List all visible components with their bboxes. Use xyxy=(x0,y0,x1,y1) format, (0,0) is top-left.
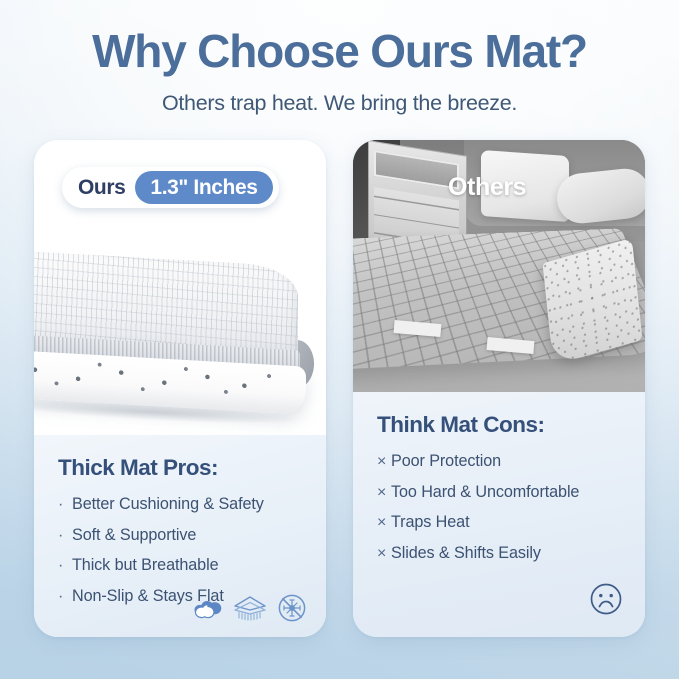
bullet-marker: · xyxy=(58,496,72,514)
ours-product-image: Ours 1.3" Inches xyxy=(34,140,326,435)
pros-list: · Better Cushioning & Safety · Soft & Su… xyxy=(58,495,302,606)
others-card-body: Think Mat Cons: × Poor Protection × Too … xyxy=(353,392,645,637)
cons-list: × Poor Protection × Too Hard & Uncomfort… xyxy=(377,452,621,563)
list-item: · Better Cushioning & Safety xyxy=(58,495,302,514)
cross-marker: × xyxy=(377,514,391,532)
cross-marker: × xyxy=(377,484,391,502)
list-item: · Soft & Supportive xyxy=(58,526,302,545)
cross-marker: × xyxy=(377,453,391,471)
list-item-label: Poor Protection xyxy=(391,452,501,471)
others-card[interactable]: Others Think Mat Cons: × Poor Protection… xyxy=(353,140,645,637)
list-item-label: Better Cushioning & Safety xyxy=(72,495,264,514)
comparison-infographic: Why Choose Ours Mat? Others trap heat. W… xyxy=(0,0,679,679)
list-item: × Traps Heat xyxy=(377,513,621,532)
bullet-marker: · xyxy=(58,588,72,606)
list-item: · Thick but Breathable xyxy=(58,556,302,575)
bullet-marker: · xyxy=(58,557,72,575)
bullet-marker: · xyxy=(58,527,72,545)
soft-foam-cloud-icon xyxy=(193,595,223,621)
ours-thickness-pill: 1.3" Inches xyxy=(135,171,272,204)
others-badge-label: Others xyxy=(448,173,526,202)
list-item-label: Thick but Breathable xyxy=(72,556,218,575)
list-item: × Too Hard & Uncomfortable xyxy=(377,483,621,502)
comparison-cards: Ours 1.3" Inches Thick Mat Pros: · Bette xyxy=(0,116,679,637)
anti-bacterial-icon xyxy=(277,593,307,623)
page-title: Why Choose Ours Mat? xyxy=(0,27,679,75)
ours-card[interactable]: Ours 1.3" Inches Thick Mat Pros: · Bette xyxy=(34,140,326,637)
ours-badge-label: Ours xyxy=(78,176,135,200)
list-item-label: Traps Heat xyxy=(391,513,469,532)
list-item: × Poor Protection xyxy=(377,452,621,471)
others-product-image: Others xyxy=(353,140,645,392)
list-item-label: Soft & Supportive xyxy=(72,526,196,545)
pros-title: Thick Mat Pros: xyxy=(58,455,302,481)
ours-badge: Ours 1.3" Inches xyxy=(62,167,279,208)
feature-icon-row xyxy=(193,593,307,623)
list-item: × Slides & Shifts Easily xyxy=(377,544,621,563)
header: Why Choose Ours Mat? Others trap heat. W… xyxy=(0,0,679,116)
list-item-label: Slides & Shifts Easily xyxy=(391,544,541,563)
mattress-pad-illustration xyxy=(34,258,326,410)
breathable-layers-icon xyxy=(233,595,267,621)
cons-title: Think Mat Cons: xyxy=(377,412,621,438)
cross-marker: × xyxy=(377,545,391,563)
page-subtitle: Others trap heat. We bring the breeze. xyxy=(0,91,679,116)
ours-card-body: Thick Mat Pros: · Better Cushioning & Sa… xyxy=(34,435,326,637)
sad-face-icon xyxy=(589,582,623,621)
list-item-label: Too Hard & Uncomfortable xyxy=(391,483,579,502)
